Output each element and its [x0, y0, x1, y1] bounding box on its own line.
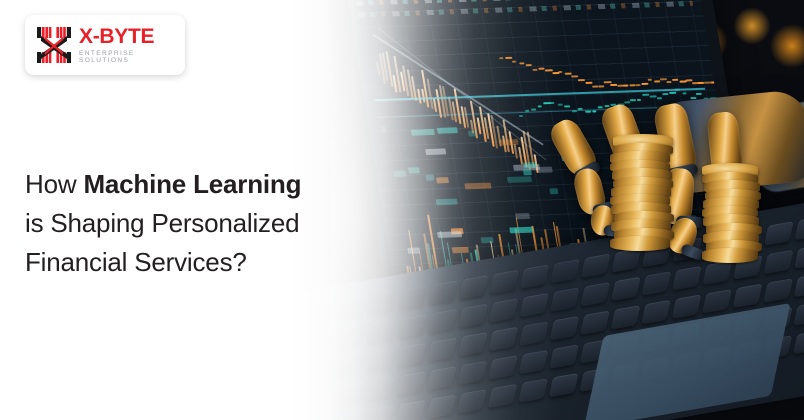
headline-line-3: Financial Services?	[25, 243, 365, 282]
headline-line-1: How Machine Learning	[25, 165, 365, 204]
headline-emphasis: Machine Learning	[83, 169, 301, 199]
headline-prefix: How	[25, 169, 83, 199]
x-byte-x-mark-icon	[36, 25, 72, 65]
robotic-hand	[540, 96, 804, 296]
logo-text-block: X-BYTE ENTERPRISE SOLUTIONS	[79, 26, 185, 64]
blog-banner: X-BYTE ENTERPRISE SOLUTIONS How Machine …	[0, 0, 804, 420]
logo-tagline: ENTERPRISE SOLUTIONS	[79, 51, 185, 64]
logo-wordmark: X-BYTE	[79, 26, 185, 47]
page-title: How Machine Learning is Shaping Personal…	[25, 165, 365, 282]
orange-line-series	[494, 20, 717, 96]
headline-line-2: is Shaping Personalized	[25, 204, 365, 243]
logo-card[interactable]: X-BYTE ENTERPRISE SOLUTIONS	[25, 15, 185, 75]
